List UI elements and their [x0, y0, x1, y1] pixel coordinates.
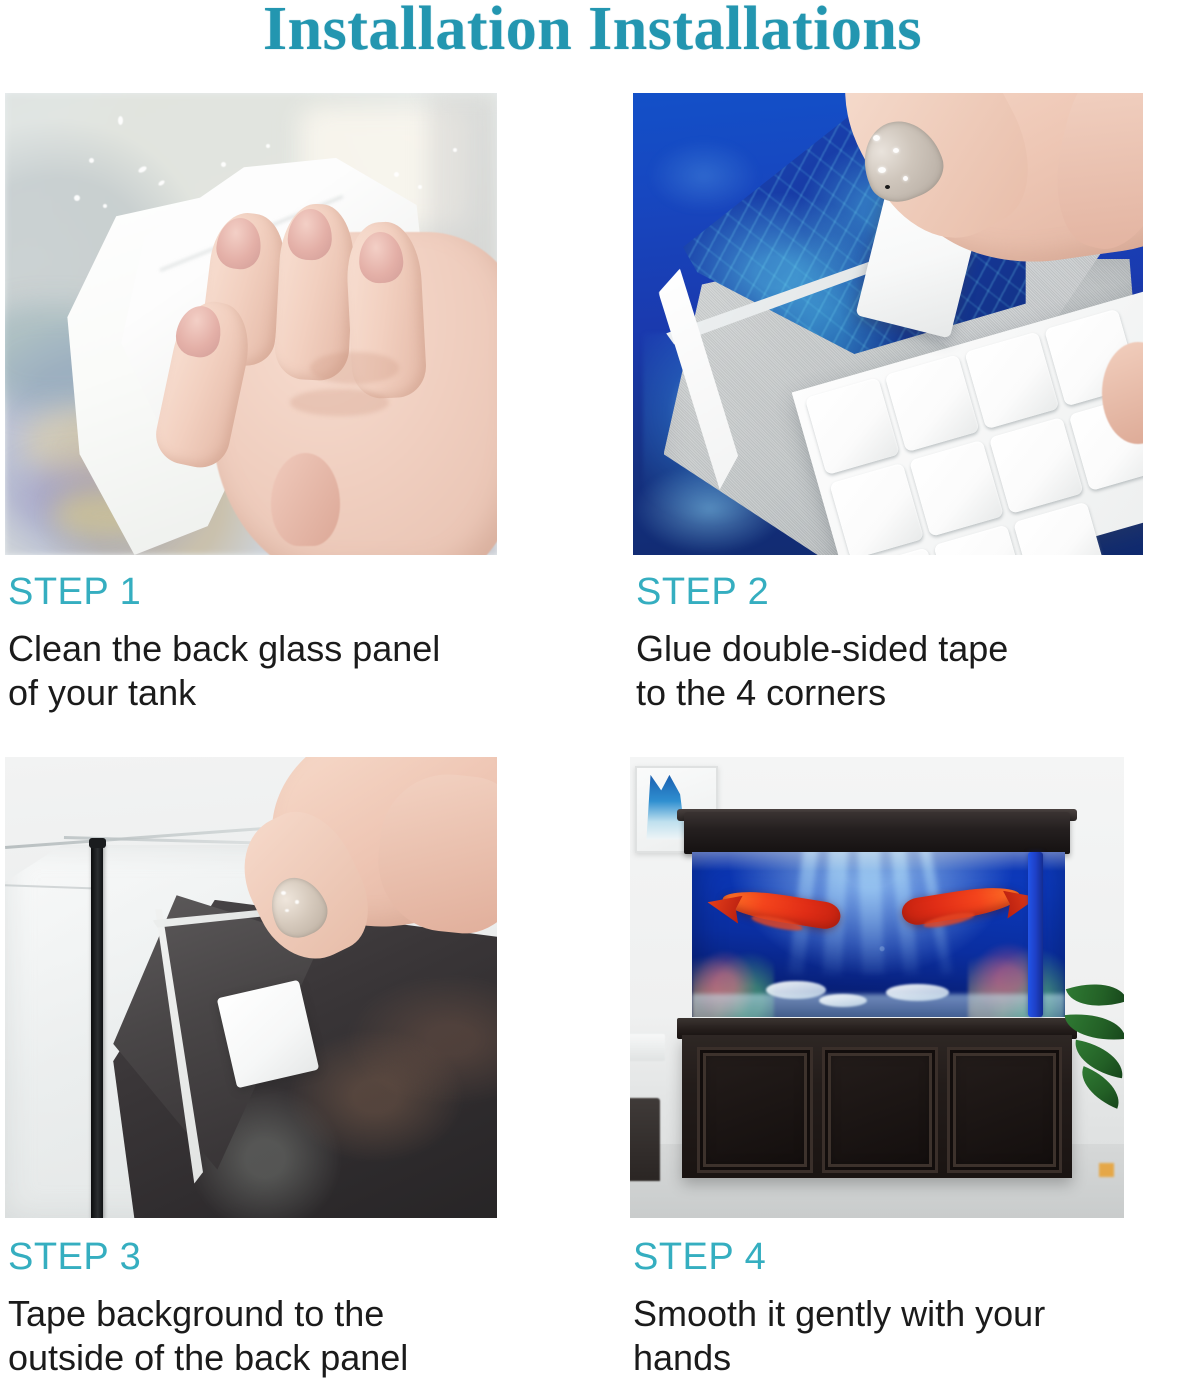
step-1-description: Clean the back glass panel of your tank [8, 627, 505, 716]
decorative-rock [766, 981, 826, 999]
side-furniture [630, 1098, 660, 1181]
step-card-2: STEP 2 Glue double-sided tape to the 4 c… [633, 93, 1163, 715]
plant-leaf [1065, 1009, 1124, 1044]
step-2-photo [633, 93, 1143, 555]
substrate-sand [692, 994, 1065, 1017]
decorative-rock [886, 984, 949, 1001]
step-1-photo [5, 93, 497, 555]
aquarium-cabinet-stand [682, 1035, 1072, 1178]
floor-highlight [1099, 1163, 1114, 1177]
nail-glitter-sparkle [873, 135, 880, 141]
step-3-photo [5, 757, 497, 1218]
step-2-description: Glue double-sided tape to the 4 corners [636, 627, 1163, 716]
nail-glitter-sparkle [878, 167, 886, 173]
step-2-label: STEP 2 [636, 573, 1163, 613]
page-title: Installation Installations [0, 0, 1185, 65]
cabinet-door[interactable] [947, 1047, 1062, 1173]
step-card-1: STEP 1 Clean the back glass panel of you… [5, 93, 505, 715]
nail-glitter-sparkle [281, 891, 286, 895]
house-plant [1065, 974, 1124, 1122]
glass-glare [692, 852, 1065, 872]
thumb-tip [271, 453, 340, 545]
step-3-label: STEP 3 [8, 1238, 505, 1278]
water-droplet [89, 158, 94, 163]
wall-picture-artwork [646, 775, 687, 840]
step-3-description: Tape background to the outside of the ba… [8, 1292, 505, 1381]
step-1-label: STEP 1 [8, 573, 505, 613]
plant-leaf [1066, 972, 1124, 1017]
cabinet-door[interactable] [697, 1047, 812, 1173]
step-card-4: STEP 4 Smooth it gently with your hands [630, 757, 1160, 1380]
knuckle-crease [290, 389, 388, 417]
knuckle-crease [310, 352, 399, 384]
side-furniture [630, 1034, 665, 1062]
step-4-description: Smooth it gently with your hands [633, 1292, 1160, 1381]
water-droplet [266, 144, 270, 148]
blue-heater-tube [1028, 852, 1044, 1018]
cabinet-door[interactable] [822, 1047, 937, 1173]
water-droplet [394, 172, 399, 177]
step-4-label: STEP 4 [633, 1238, 1160, 1278]
title-bar: Installation Installations [0, 0, 1185, 84]
tank-black-corner-trim [89, 838, 106, 848]
step-card-3: STEP 3 Tape background to the outside of… [5, 757, 505, 1380]
step-4-photo [630, 757, 1124, 1218]
aquarium-hood [684, 812, 1069, 853]
tank-black-corner-trim [91, 842, 103, 1218]
aquarium-tank-with-background [692, 852, 1065, 1018]
water-droplet [74, 195, 80, 201]
